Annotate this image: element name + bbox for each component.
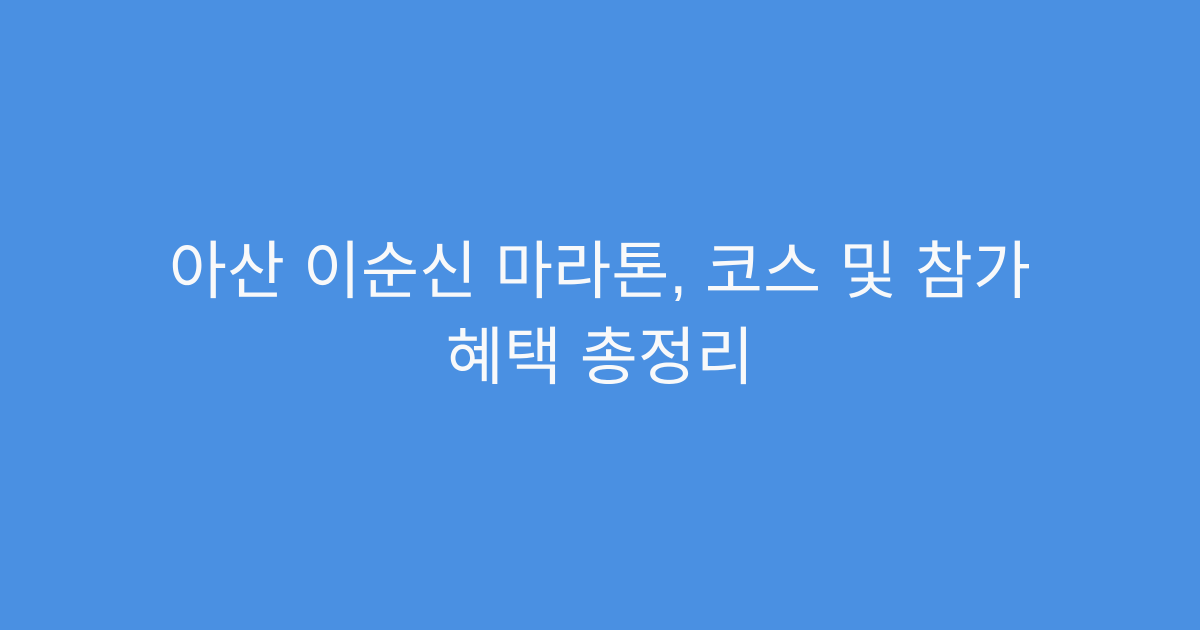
- card-content-wrapper: 아산 이순신 마라톤, 코스 및 참가 혜택 총정리: [95, 229, 1105, 401]
- social-share-card: 아산 이순신 마라톤, 코스 및 참가 혜택 총정리: [0, 0, 1200, 630]
- card-title: 아산 이순신 마라톤, 코스 및 참가 혜택 총정리: [95, 229, 1105, 401]
